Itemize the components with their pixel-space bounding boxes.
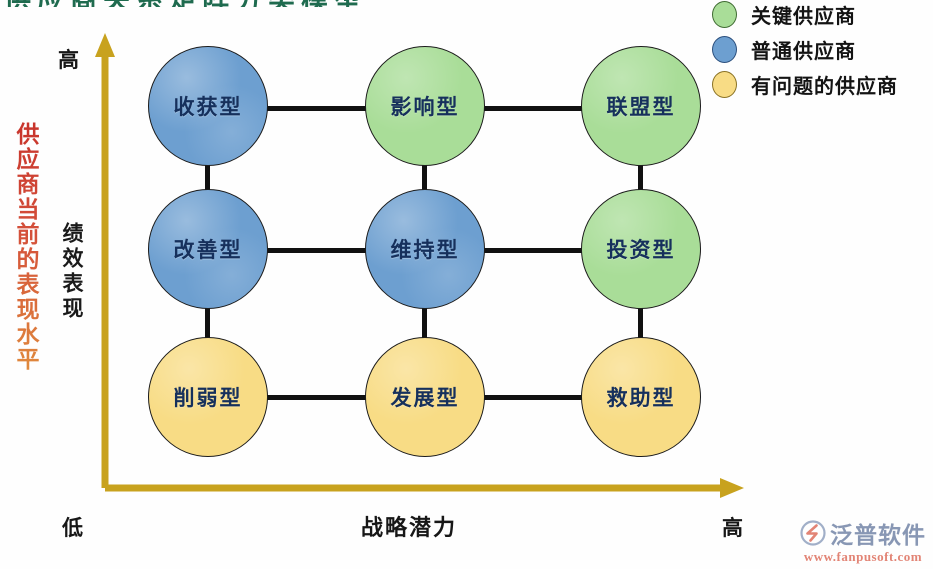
connector-r0-c0-c1 <box>266 106 366 111</box>
cutoff-heading-strip: 供应商关系矩阵分类模型 <box>0 0 470 7</box>
node-alliance[interactable]: 联盟型 <box>581 46 701 166</box>
node-improve-label: 改善型 <box>174 234 243 264</box>
connector-c2-r1-r2 <box>638 306 643 339</box>
legend-swatch-blue-icon <box>712 36 737 63</box>
legend: 关键供应商 普通供应商 有问题的供应商 <box>712 0 898 102</box>
node-maintain[interactable]: 维持型 <box>365 189 485 309</box>
node-harvest-label: 收获型 <box>174 91 243 121</box>
y-axis-title-inner: 绩效表现 <box>57 222 87 322</box>
legend-item-problem-supplier[interactable]: 有问题的供应商 <box>712 67 898 102</box>
node-harvest[interactable]: 收获型 <box>148 46 268 166</box>
node-weaken[interactable]: 削弱型 <box>148 337 268 457</box>
connector-r2-c0-c1 <box>266 395 366 400</box>
connector-c1-r1-r2 <box>422 306 427 339</box>
diagram-canvas: 供应商关系矩阵分类模型 供应商当前的表现水平 绩效表现 高 低 高 战略潜力 收… <box>0 0 933 569</box>
node-invest[interactable]: 投资型 <box>581 189 701 309</box>
watermark-brand: 泛普软件 <box>830 516 926 550</box>
y-axis-title-outer: 供应商当前的表现水平 <box>8 122 42 372</box>
connector-c0-r1-r2 <box>205 306 210 339</box>
connector-c1-r0-r1 <box>422 164 427 192</box>
connector-r1-c0-c1 <box>266 248 366 253</box>
node-alliance-label: 联盟型 <box>607 91 676 121</box>
x-axis-low-label: 低 <box>62 512 84 542</box>
node-rescue[interactable]: 救助型 <box>581 337 701 457</box>
watermark-url: www.fanpusoft.com <box>804 549 922 565</box>
legend-label-normal-supplier: 普通供应商 <box>751 35 856 64</box>
fanpu-logo-icon <box>800 520 826 546</box>
node-weaken-label: 削弱型 <box>174 382 243 412</box>
watermark-brand-row: 泛普软件 <box>800 516 926 550</box>
x-axis-high-label: 高 <box>722 512 744 542</box>
connector-r1-c1-c2 <box>483 248 582 253</box>
connector-c0-r0-r1 <box>205 164 210 192</box>
legend-label-problem-supplier: 有问题的供应商 <box>751 70 898 99</box>
connector-c2-r0-r1 <box>638 164 643 192</box>
x-axis-title: 战略潜力 <box>361 510 457 542</box>
y-axis-high-label: 高 <box>58 44 80 74</box>
connector-r0-c1-c2 <box>483 106 582 111</box>
legend-label-key-supplier: 关键供应商 <box>751 0 856 29</box>
watermark: 泛普软件 www.fanpusoft.com <box>800 516 926 565</box>
legend-swatch-green-icon <box>712 1 737 28</box>
legend-item-key-supplier[interactable]: 关键供应商 <box>712 0 898 32</box>
node-rescue-label: 救助型 <box>607 382 676 412</box>
legend-swatch-yellow-icon <box>712 71 737 98</box>
node-maintain-label: 维持型 <box>391 234 460 264</box>
cutoff-heading-text: 供应商关系矩阵分类模型 <box>4 0 367 7</box>
node-improve[interactable]: 改善型 <box>148 189 268 309</box>
node-develop[interactable]: 发展型 <box>365 337 485 457</box>
connector-r2-c1-c2 <box>483 395 582 400</box>
node-influence[interactable]: 影响型 <box>365 46 485 166</box>
node-influence-label: 影响型 <box>391 91 460 121</box>
node-invest-label: 投资型 <box>607 234 676 264</box>
legend-item-normal-supplier[interactable]: 普通供应商 <box>712 32 898 67</box>
node-develop-label: 发展型 <box>391 382 460 412</box>
